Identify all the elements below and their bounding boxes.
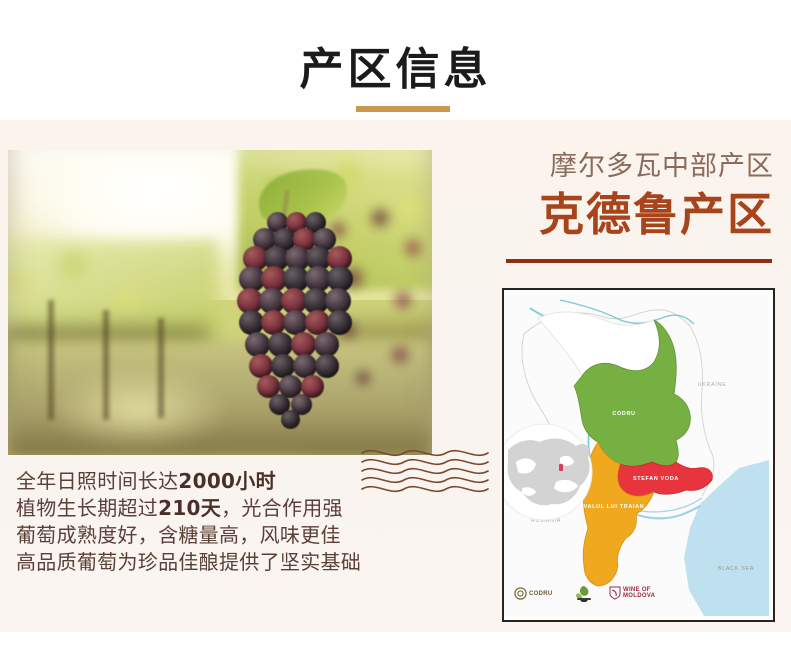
description-block: 全年日照时间长达2000小时 植物生长期超过210天，光合作用强 葡萄成熟度好，… xyxy=(16,468,436,576)
title-underline xyxy=(356,106,450,112)
description-line: 葡萄成熟度好，含糖量高，风味更佳 xyxy=(16,522,436,549)
region-divider xyxy=(506,259,772,263)
description-line: 全年日照时间长达2000小时 xyxy=(16,468,436,495)
map-label-codru: CODRU xyxy=(612,411,635,417)
description-line-post: ，光合作用强 xyxy=(221,496,343,520)
region-heading: 摩尔多瓦中部产区 克德鲁产区 xyxy=(506,150,774,244)
map-label-ukraine: UKRAINE xyxy=(698,382,727,388)
wine-of-moldova-leaf-logo xyxy=(574,585,594,603)
description-line-strong: 210天 xyxy=(158,496,221,520)
page-header: 产区信息 xyxy=(0,0,791,120)
inset-moldova-marker xyxy=(559,464,563,471)
description-line-strong: 2000小时 xyxy=(178,469,275,493)
map-logo-strip: CODRU WINE OF MOLDOVA xyxy=(514,584,674,606)
region-title: 克德鲁产区 xyxy=(506,186,774,244)
description-line: 高品质葡萄为珍品佳酿提供了坚实基础 xyxy=(16,549,436,576)
region-subtitle: 摩尔多瓦中部产区 xyxy=(506,150,774,184)
description-line: 植物生长期超过210天，光合作用强 xyxy=(16,495,436,522)
map-label-stefan-voda: STEFAN VODA xyxy=(633,476,679,482)
description-line-pre: 高品质葡萄为珍品佳酿提供了坚实基础 xyxy=(16,550,361,574)
leaf-icon xyxy=(574,585,594,603)
moldova-wine-regions-map: CODRU STEFAN VODA VALUL LUI TRAIAN UKRAI… xyxy=(502,288,775,622)
codru-logo: CODRU xyxy=(514,587,553,600)
codru-logo-mark xyxy=(514,587,527,600)
page-title: 产区信息 xyxy=(0,44,791,96)
photo-vignette xyxy=(8,150,432,455)
codru-logo-text: CODRU xyxy=(529,591,553,597)
vineyard-photo xyxy=(8,150,432,455)
description-line-pre: 植物生长期超过 xyxy=(16,496,158,520)
europe-locator-inset xyxy=(504,424,592,520)
map-label-valul-lui-traian: VALUL LUI TRAIAN xyxy=(584,504,645,510)
description-line-pre: 葡萄成熟度好，含糖量高，风味更佳 xyxy=(16,523,341,547)
brand-logo-mark xyxy=(609,586,621,600)
map-label-black-sea: BLACK SEA xyxy=(718,566,754,572)
description-line-pre: 全年日照时间长达 xyxy=(16,469,178,493)
brand-logo: WINE OF MOLDOVA xyxy=(609,586,663,600)
brand-logo-text: WINE OF MOLDOVA xyxy=(623,587,663,599)
map-svg: CODRU STEFAN VODA VALUL LUI TRAIAN UKRAI… xyxy=(504,290,769,616)
